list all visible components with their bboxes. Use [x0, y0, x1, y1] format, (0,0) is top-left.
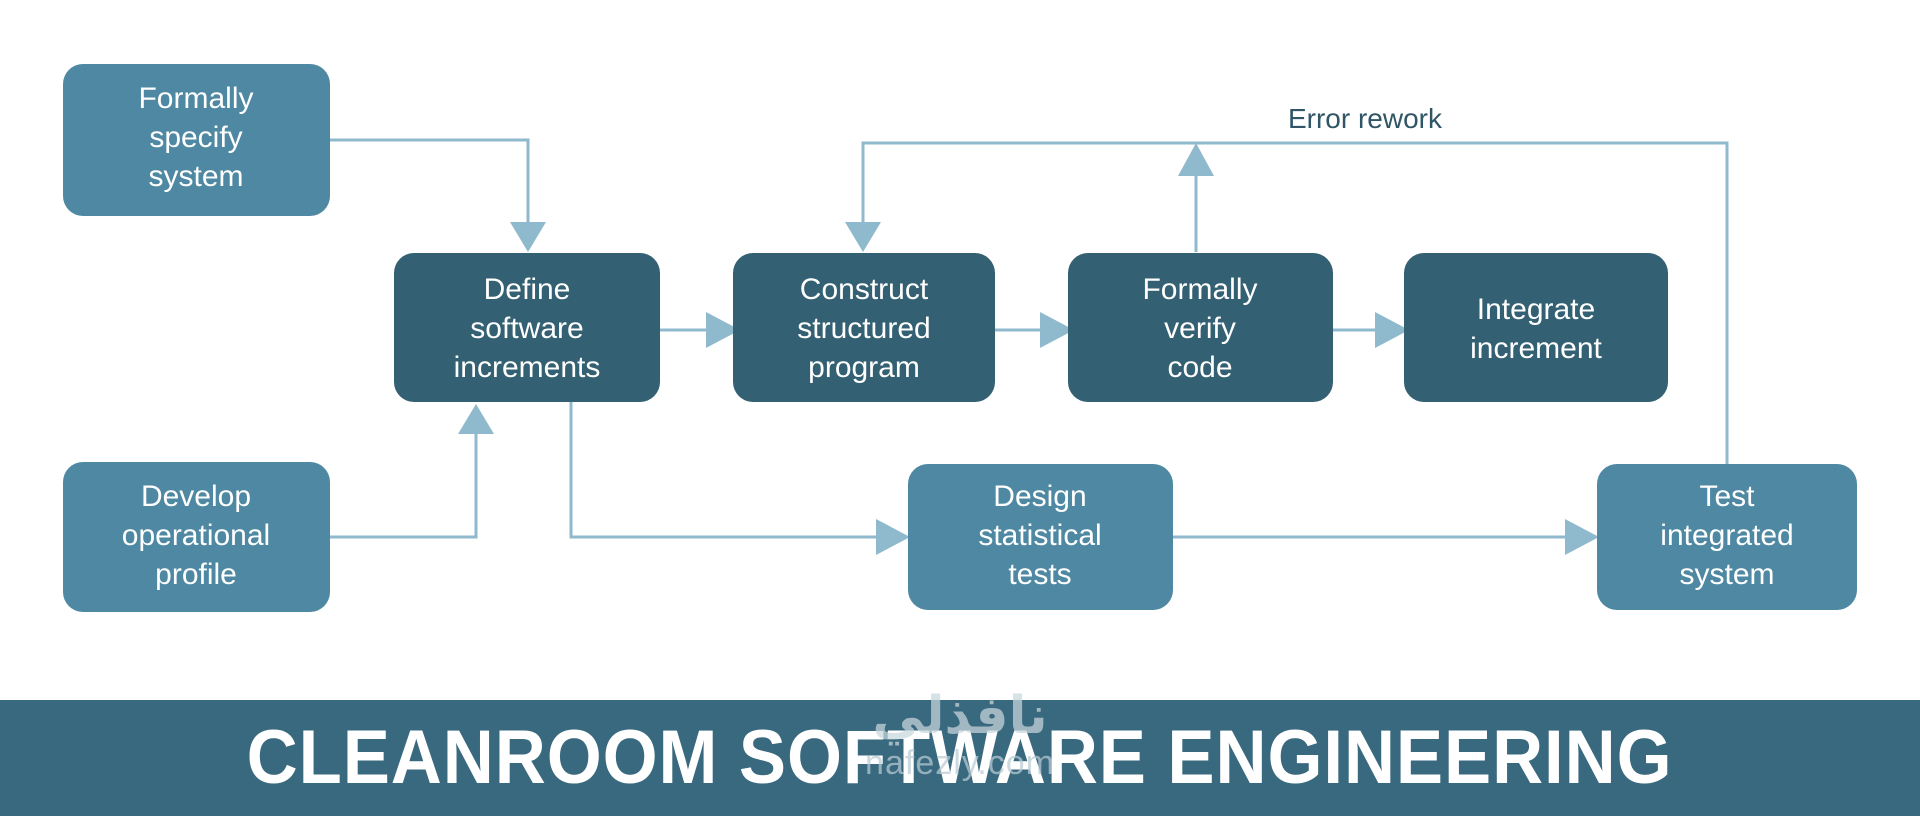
edge-specify-to-define — [330, 140, 546, 252]
node-label-line: system — [148, 160, 243, 193]
banner-title: CLEANROOM SOFTWARE ENGINEERING — [247, 720, 1673, 796]
flowchart-canvas: Error rework Formally specify system Dev… — [0, 0, 1920, 700]
edge-profile-to-define — [330, 404, 494, 537]
node-formally-specify-system[interactable]: Formally specify system — [63, 64, 330, 216]
arrowhead-icon — [876, 519, 910, 555]
node-label-line: specify — [149, 121, 242, 154]
arrowhead-icon — [845, 222, 881, 252]
arrowhead-icon — [1565, 519, 1599, 555]
node-construct-structured-program[interactable]: Construct structured program — [733, 253, 995, 402]
edge-path — [330, 140, 528, 222]
node-test-integrated-system[interactable]: Test integrated system — [1597, 464, 1857, 610]
node-label-line: Integrate — [1477, 293, 1595, 326]
arrowhead-icon — [1178, 143, 1214, 176]
diagram-root: Error rework Formally specify system Dev… — [0, 0, 1920, 816]
node-formally-verify-code[interactable]: Formally verify code — [1068, 253, 1333, 402]
arrowhead-icon — [1375, 312, 1409, 348]
node-label-line: Formally — [138, 82, 253, 115]
edge-path — [330, 434, 476, 537]
node-label-line: increment — [1470, 332, 1602, 365]
node-develop-operational-profile[interactable]: Develop operational profile — [63, 462, 330, 612]
node-label-line: software — [470, 312, 583, 345]
node-label-line: Formally — [1142, 273, 1257, 306]
bottom-banner: CLEANROOM SOFTWARE ENGINEERING — [0, 700, 1920, 816]
node-label-line: Define — [484, 273, 571, 306]
node-label-line: system — [1679, 558, 1774, 591]
edge-verify-to-integrate — [1333, 312, 1409, 348]
node-label-line: program — [808, 351, 920, 384]
edge-construct-to-verify — [995, 312, 1074, 348]
node-label-line: verify — [1164, 312, 1236, 345]
node-label-line: integrated — [1660, 519, 1793, 552]
node-label-line: tests — [1008, 558, 1071, 591]
node-label-line: operational — [122, 519, 270, 552]
node-label-line: profile — [155, 558, 237, 591]
arrowhead-icon — [510, 222, 546, 252]
node-define-software-increments[interactable]: Define software increments — [394, 253, 660, 402]
node-label-line: Construct — [800, 273, 929, 306]
node-label-line: Design — [993, 480, 1086, 513]
node-label-line: statistical — [978, 519, 1101, 552]
edge-define-to-design-tests — [571, 402, 910, 555]
node-label-line: increments — [454, 351, 601, 384]
node-label-line: code — [1167, 351, 1232, 384]
node-integrate-increment[interactable]: Integrate increment — [1404, 253, 1668, 402]
arrowhead-icon — [458, 404, 494, 434]
edge-design-tests-to-test-system — [1172, 519, 1599, 555]
edge-label-error-rework: Error rework — [1288, 103, 1443, 134]
node-label-line: structured — [797, 312, 930, 345]
node-label-line: Test — [1699, 480, 1755, 513]
edge-define-to-construct — [660, 312, 740, 348]
edge-path — [571, 402, 876, 537]
edge-verify-to-error-rework — [1178, 143, 1214, 252]
node-design-statistical-tests[interactable]: Design statistical tests — [908, 464, 1173, 610]
node-shape — [1404, 253, 1668, 402]
node-label-line: Develop — [141, 480, 251, 513]
